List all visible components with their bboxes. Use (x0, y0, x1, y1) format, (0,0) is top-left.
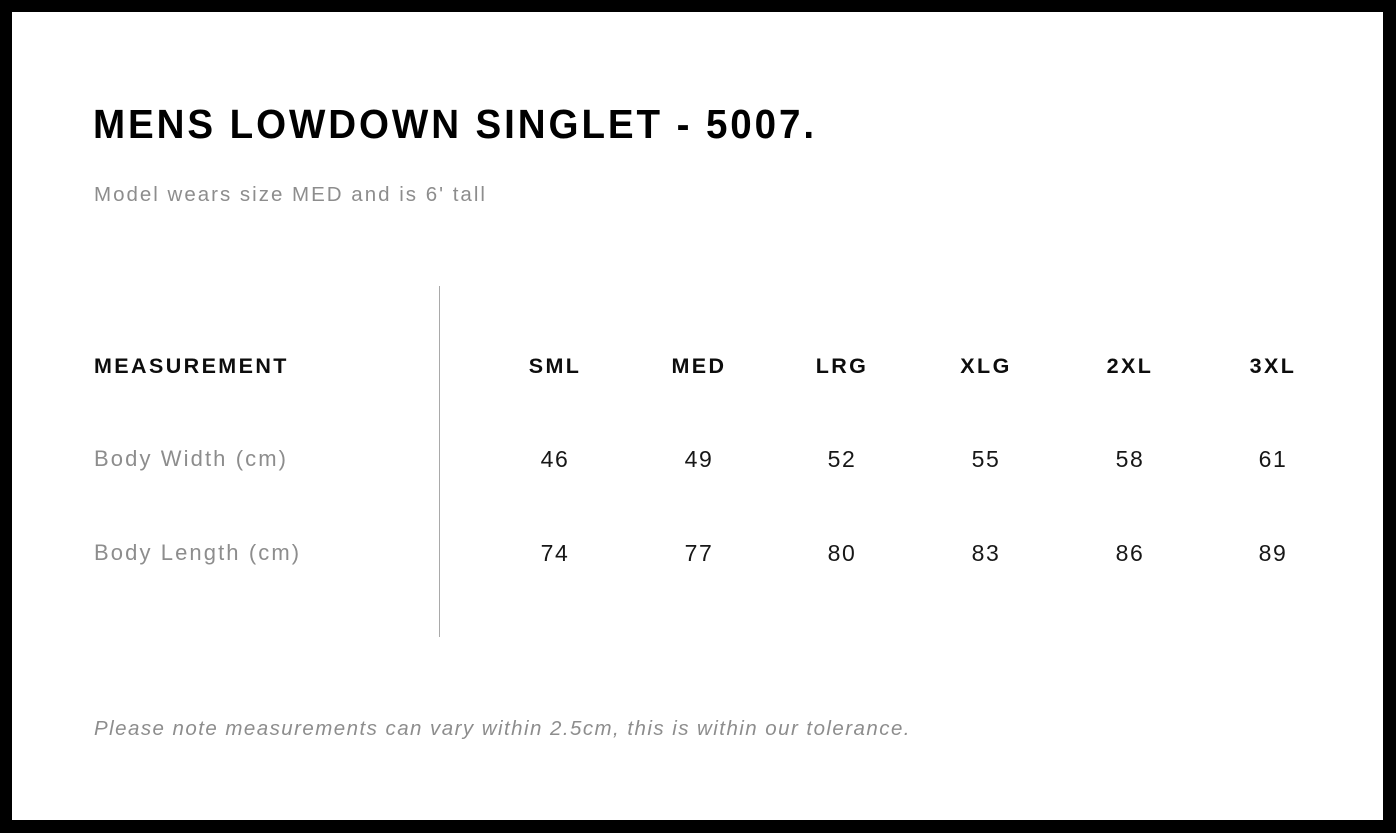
size-chart-card: MENS LOWDOWN SINGLET - 5007. Model wears… (0, 0, 1396, 833)
cell-body-width-med: 49 (639, 448, 759, 471)
column-divider (439, 286, 440, 637)
row-label-body-length: Body Length (cm) (94, 542, 301, 564)
cell-body-length-xlg: 83 (926, 542, 1046, 565)
row-label-body-width: Body Width (cm) (94, 448, 288, 470)
cell-body-length-med: 77 (639, 542, 759, 565)
column-header-med: MED (639, 356, 759, 378)
column-header-measurement: MEASUREMENT (94, 356, 289, 378)
tolerance-note: Please note measurements can vary within… (94, 719, 911, 740)
cell-body-width-sml: 46 (495, 448, 615, 471)
column-header-2xl: 2XL (1070, 356, 1190, 378)
cell-body-length-2xl: 86 (1070, 542, 1190, 565)
cell-body-length-sml: 74 (495, 542, 615, 565)
column-header-sml: SML (495, 356, 615, 378)
cell-body-length-lrg: 80 (782, 542, 902, 565)
cell-body-width-xlg: 55 (926, 448, 1046, 471)
column-header-xlg: XLG (926, 356, 1046, 378)
cell-body-length-3xl: 89 (1213, 542, 1333, 565)
size-chart-sheet: MENS LOWDOWN SINGLET - 5007. Model wears… (12, 12, 1383, 820)
cell-body-width-2xl: 58 (1070, 448, 1190, 471)
column-header-lrg: LRG (782, 356, 902, 378)
model-info-subtitle: Model wears size MED and is 6' tall (94, 185, 487, 206)
cell-body-width-3xl: 61 (1213, 448, 1333, 471)
page-title: MENS LOWDOWN SINGLET - 5007. (93, 104, 817, 145)
cell-body-width-lrg: 52 (782, 448, 902, 471)
column-header-3xl: 3XL (1213, 356, 1333, 378)
